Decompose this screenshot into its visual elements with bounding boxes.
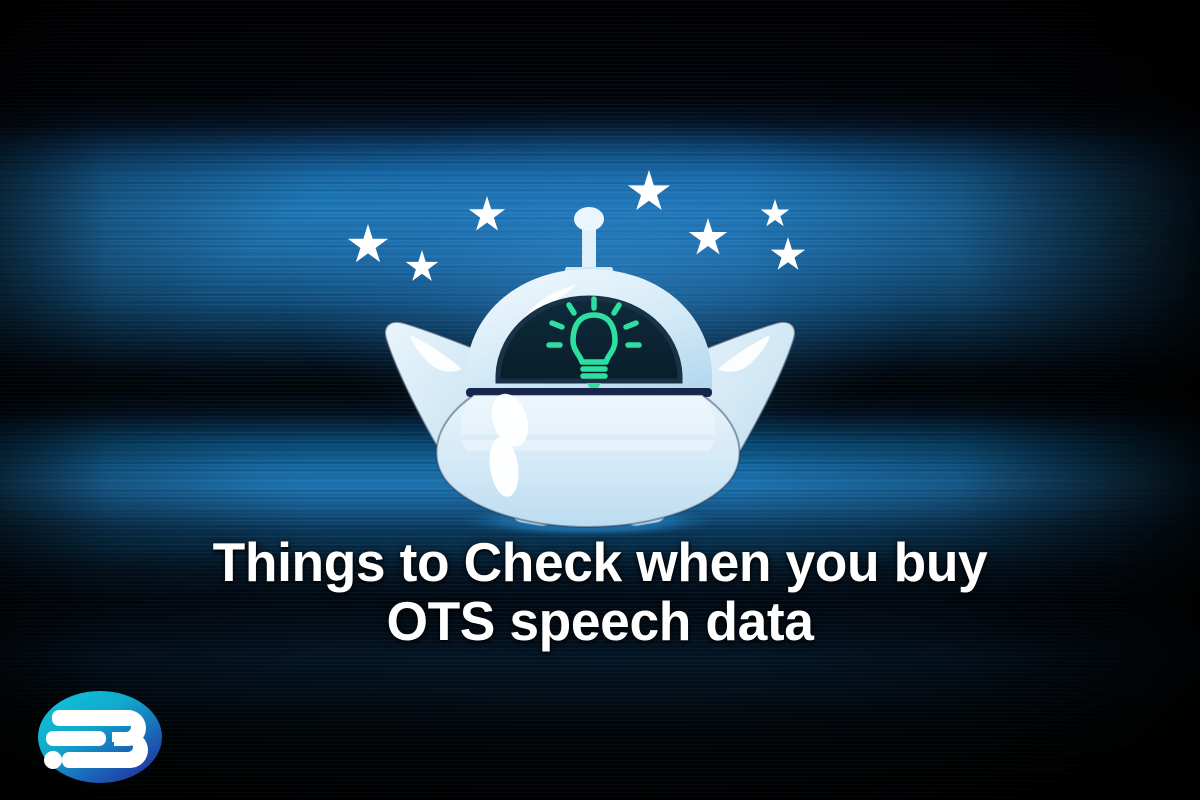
title-line-2: OTS speech data	[18, 592, 1182, 651]
title-line-1: Things to Check when you buy	[18, 533, 1182, 592]
logo-b-mark	[44, 710, 148, 769]
robot-head	[466, 269, 712, 391]
brand-logo[interactable]	[22, 683, 178, 791]
poster-title: Things to Check when you buy OTS speech …	[18, 533, 1182, 651]
poster-canvas: Things to Check when you buy OTS speech …	[0, 0, 1200, 800]
robot-body	[436, 389, 739, 527]
robot-mascot	[370, 195, 810, 545]
